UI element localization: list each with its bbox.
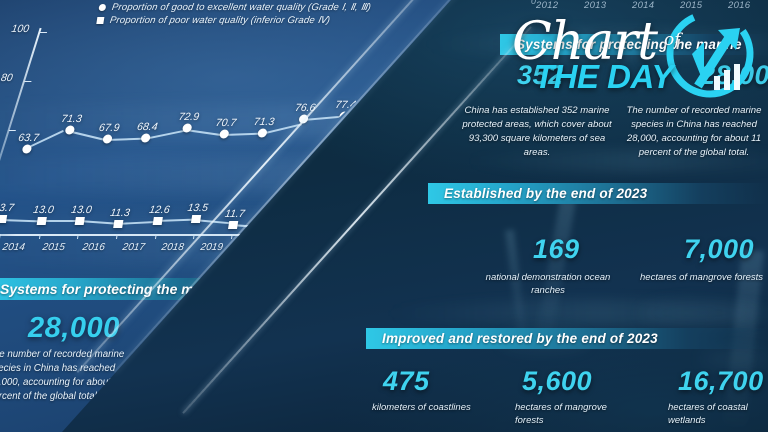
chart-of-the-day-logo: Chart of THE DAY bbox=[512, 6, 762, 102]
value-label: 11.7 bbox=[224, 208, 246, 220]
data-point bbox=[153, 217, 163, 225]
stat-value-16700: 16,700 bbox=[678, 366, 764, 397]
stat-caption-16700: hectares of coastal wetlands bbox=[668, 402, 768, 427]
logo-theday-word: THE DAY bbox=[534, 58, 673, 96]
stat-body-352: China has established 352 marine protect… bbox=[462, 104, 612, 160]
stat-value-169: 169 bbox=[533, 234, 580, 265]
banner-established-2023: Established by the end of 2023 bbox=[428, 183, 768, 204]
infographic-slide: 0 2012 2013 2014 2015 2016 2017 Systems … bbox=[0, 0, 768, 432]
value-label: 13.0 bbox=[70, 204, 92, 216]
stat-value-5600: 5,600 bbox=[522, 366, 592, 397]
data-point bbox=[228, 221, 238, 229]
circle-marker-icon bbox=[98, 4, 106, 11]
logo-of-word: of bbox=[664, 30, 681, 50]
data-point bbox=[0, 215, 7, 223]
stat-value-28000-left: 28,000 bbox=[28, 312, 120, 345]
data-point bbox=[37, 217, 47, 225]
x-axis-label: 2015 bbox=[42, 242, 66, 253]
stat-value-475: 475 bbox=[383, 366, 430, 397]
legend-label: Proportion of good to excellent water qu… bbox=[111, 2, 372, 13]
data-point bbox=[191, 215, 201, 223]
x-axis-label: 2018 bbox=[161, 242, 185, 253]
stat-caption-169: national demonstration ocean ranches bbox=[484, 272, 612, 297]
data-point bbox=[113, 220, 123, 228]
value-label: 13.7 bbox=[0, 202, 15, 214]
x-axis-label: 2019 bbox=[200, 242, 224, 253]
stat-value-7000: 7,000 bbox=[684, 234, 754, 265]
x-axis-label: 2016 bbox=[82, 242, 106, 253]
data-point bbox=[75, 217, 85, 225]
bar-chart-icon bbox=[714, 64, 740, 90]
stat-caption-475: kilometers of coastlines bbox=[372, 402, 482, 415]
value-label: 12.6 bbox=[148, 204, 170, 216]
x-axis-label: 2014 bbox=[2, 242, 26, 253]
banner-improved-restored-2023: Improved and restored by the end of 2023 bbox=[366, 328, 768, 349]
x-axis-label: 2017 bbox=[122, 242, 146, 253]
value-label: 13.0 bbox=[32, 204, 54, 216]
value-label: 11.3 bbox=[109, 207, 131, 219]
stat-body-28000: The number of recorded marine species in… bbox=[618, 104, 768, 160]
stat-caption-5600: hectares of mangrove forests bbox=[515, 402, 633, 427]
value-label: 13.5 bbox=[187, 202, 209, 214]
legend-item-good-quality: Proportion of good to excellent water qu… bbox=[98, 2, 372, 13]
stat-caption-7000: hectares of mangrove forests bbox=[640, 272, 768, 285]
